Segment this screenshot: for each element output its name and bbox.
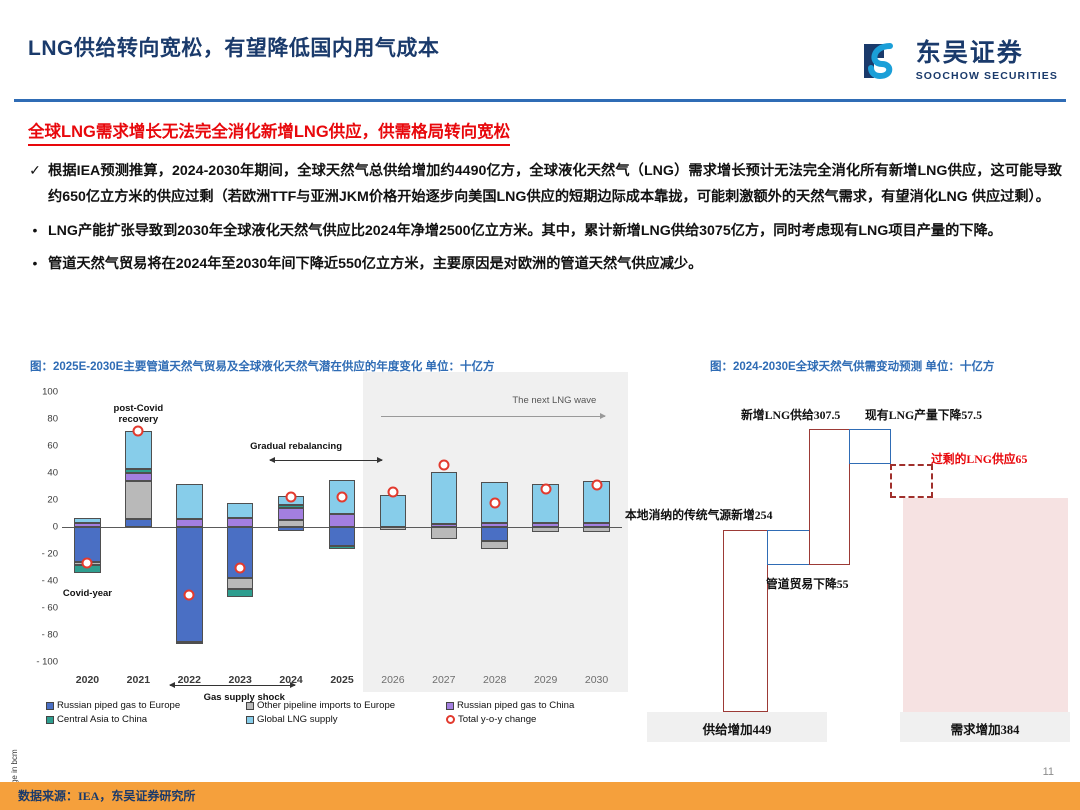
legend-swatch-icon [446, 702, 454, 710]
bullet-list: ✓ 根据IEA预测推算，2024-2030年期间，全球天然气总供给增加约4490… [22, 158, 1062, 284]
bar-segment [125, 519, 151, 527]
bar-segment [227, 578, 253, 589]
y-axis-tick: 100 [42, 387, 58, 398]
legend-item: Central Asia to China [46, 714, 246, 725]
y-axis-tick: 20 [47, 495, 58, 506]
bar-segment [583, 523, 609, 527]
slide-root: LNG供给转向宽松，有望降低国内用气成本 东吴证券 SOOCHOW SECURI… [0, 0, 1080, 810]
x-axis-tick: 2028 [483, 674, 506, 686]
x-axis-tick: 2029 [534, 674, 557, 686]
list-item-text: 管道天然气贸易将在2024年至2030年间下降近550亿立方米，主要原因是对欧洲… [48, 251, 702, 277]
y-axis-tick: - 100 [36, 657, 58, 668]
footer-supply-total: 供给增加449 [647, 719, 827, 738]
waterfall-chart: 本地消纳的传统气源新增254 新增LNG供给307.5 现有LNG产量下降57.… [625, 392, 1075, 747]
bar-segment [227, 503, 253, 518]
total-change-marker [387, 486, 398, 497]
checkmark-icon: ✓ [22, 158, 48, 184]
bar-segment [431, 472, 457, 525]
y-axis-tick: 40 [47, 468, 58, 479]
bar-segment [532, 527, 558, 532]
label-pipeline-decline: 管道贸易下降55 [766, 575, 849, 592]
total-change-marker [489, 497, 500, 508]
bar-segment [329, 546, 355, 549]
x-axis-tick: 2026 [381, 674, 404, 686]
y-axis-tick: 80 [47, 414, 58, 425]
list-item: ✓ 根据IEA预测推算，2024-2030年期间，全球天然气总供给增加约4490… [22, 158, 1062, 211]
list-item: • LNG产能扩张导致到2030年全球液化天然气供应比2024年净增2500亿立… [22, 218, 1062, 244]
bar-segment [74, 523, 100, 527]
y-axis-tick: - 40 [42, 576, 58, 587]
total-change-marker [184, 589, 195, 600]
list-item-text: 根据IEA预测推算，2024-2030年期间，全球天然气总供给增加约4490亿方… [48, 158, 1062, 211]
legend-item: Russian piped gas to China [446, 700, 574, 711]
chart-annotation: Covid-year [42, 589, 132, 600]
legend-label: Total y-o-y change [458, 714, 536, 725]
y-axis-tick: 60 [47, 441, 58, 452]
bar-segment [380, 495, 406, 527]
legend-item: Other pipeline imports to Europe [246, 700, 446, 711]
total-change-marker [337, 492, 348, 503]
logo-text-zh: 东吴证券 [916, 41, 1058, 66]
legend-item: Global LNG supply [246, 714, 446, 725]
soochow-logo-icon [860, 38, 906, 84]
bar-segment [583, 527, 609, 532]
demand-bar [903, 498, 1068, 712]
x-axis-tick: 2021 [127, 674, 150, 686]
y-axis-tick: - 20 [42, 549, 58, 560]
list-item-text: LNG产能扩张导致到2030年全球液化天然气供应比2024年净增2500亿立方米… [48, 218, 1002, 244]
logo-text-en: SOOCHOW SECURITIES [916, 70, 1058, 82]
x-axis-tick: 2023 [228, 674, 251, 686]
label-surplus-lng: 过剩的LNG供应65 [931, 450, 1027, 467]
page-number: 11 [1043, 766, 1054, 778]
chart-annotation: The next LNG wave [474, 396, 634, 407]
legend-item: Russian piped gas to Europe [46, 700, 246, 711]
bar-segment [431, 524, 457, 527]
bar-segment [74, 527, 100, 562]
bar-segment [74, 518, 100, 523]
bar-segment [125, 473, 151, 481]
arrow-head-right [600, 413, 606, 419]
legend-marker-icon [446, 715, 455, 724]
bar-segment [481, 523, 507, 527]
bar-segment [176, 642, 202, 644]
legend-swatch-icon [246, 702, 254, 710]
bar-segment [532, 523, 558, 527]
bar-segment [125, 481, 151, 519]
total-change-marker [540, 484, 551, 495]
step-pipeline-decline [767, 530, 810, 565]
total-change-marker [82, 558, 93, 569]
total-change-marker [286, 492, 297, 503]
legend-swatch-icon [46, 702, 54, 710]
legend-item: Total y-o-y change [446, 714, 536, 725]
legend-swatch-icon [246, 716, 254, 724]
bar-segment [380, 527, 406, 530]
bar-segment [176, 484, 202, 519]
footer-demand-total: 需求增加384 [900, 719, 1070, 738]
bar-segment [481, 527, 507, 541]
chart-caption-right: 图：2024-2030E全球天然气供需变动预测 单位：十亿方 [710, 358, 994, 374]
bullet-dot-icon: • [22, 251, 48, 277]
bar-segment [278, 505, 304, 508]
bar-segment [278, 527, 304, 531]
plot-area: Covid-yearpost-CovidrecoveryGas supply s… [62, 392, 622, 662]
annotation-arrow [270, 460, 382, 461]
annotation-arrow [381, 416, 605, 417]
section-heading: 全球LNG需求增长无法完全消化新增LNG供应，供需格局转向宽松 [28, 118, 510, 146]
bar-segment [481, 541, 507, 549]
label-new-lng-supply: 新增LNG供给307.5 [741, 406, 840, 423]
total-change-marker [235, 562, 246, 573]
y-axis-ticks: 100806040200- 20- 40- 60- 80- 100 [14, 392, 58, 662]
step-existing-lng-decline [849, 429, 891, 464]
bar-segment [125, 431, 151, 469]
y-axis-tick: - 60 [42, 603, 58, 614]
stacked-bar-chart: Y-o-y change in bcm 100806040200- 20- 40… [14, 392, 629, 737]
chart-legend: Russian piped gas to Europe Other pipeli… [46, 700, 626, 725]
brand-logo: 东吴证券 SOOCHOW SECURITIES [860, 38, 1058, 84]
total-change-marker [133, 426, 144, 437]
bar-segment [227, 589, 253, 597]
x-axis-tick: 2022 [178, 674, 201, 686]
step-new-lng-supply [809, 429, 850, 565]
legend-label: Central Asia to China [57, 714, 147, 725]
bar-segment [329, 514, 355, 528]
y-axis-tick: 0 [53, 522, 58, 533]
bar-segment [176, 527, 202, 642]
bar-segment [431, 527, 457, 539]
step-local-supply [723, 530, 768, 712]
bar-segment [278, 520, 304, 527]
y-axis-tick: - 80 [42, 630, 58, 641]
bar-segment [176, 519, 202, 527]
label-local-supply: 本地消纳的传统气源新增254 [625, 506, 772, 523]
arrow-head-right [377, 457, 383, 463]
bullet-dot-icon: • [22, 218, 48, 244]
step-surplus-lng [890, 464, 933, 498]
chart-annotation: post-Covidrecovery [90, 404, 186, 426]
legend-label: Other pipeline imports to Europe [257, 700, 395, 711]
header-divider [14, 99, 1066, 102]
legend-label: Global LNG supply [257, 714, 338, 725]
x-axis-tick: 2025 [330, 674, 353, 686]
bar-segment [227, 518, 253, 527]
total-change-marker [591, 480, 602, 491]
chart-annotation: Gradual rebalancing [231, 442, 361, 453]
x-axis-tick: 2024 [279, 674, 302, 686]
bar-segment [278, 508, 304, 520]
list-item: • 管道天然气贸易将在2024年至2030年间下降近550亿立方米，主要原因是对… [22, 251, 1062, 277]
arrow-head-left [269, 457, 275, 463]
total-change-marker [438, 459, 449, 470]
source-note: 数据来源：IEA，东吴证券研究所 [18, 787, 195, 804]
page-title: LNG供给转向宽松，有望降低国内用气成本 [28, 32, 439, 62]
bar-segment [329, 527, 355, 546]
x-axis-tick: 2020 [76, 674, 99, 686]
arrow-head-left [169, 682, 175, 688]
legend-label: Russian piped gas to Europe [57, 700, 180, 711]
label-existing-lng-decline: 现有LNG产量下降57.5 [865, 406, 982, 423]
legend-label: Russian piped gas to China [457, 700, 574, 711]
x-axis-tick: 2027 [432, 674, 455, 686]
x-axis-tick: 2030 [585, 674, 608, 686]
bar-segment [125, 469, 151, 473]
legend-swatch-icon [46, 716, 54, 724]
